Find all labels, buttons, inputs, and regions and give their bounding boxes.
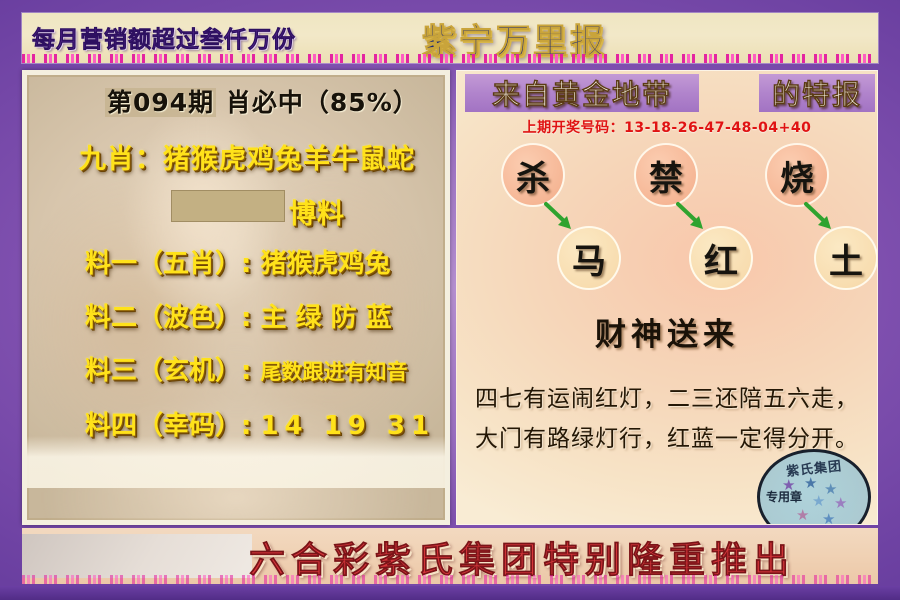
issue-title-line: 第094期 肖必中（85%） bbox=[105, 83, 419, 119]
tip-row-2-value: 主 绿 防 蓝 bbox=[260, 303, 391, 333]
previous-draw-numbers: 上期开奖号码：13-18-26-47-48-04+40 bbox=[457, 117, 877, 137]
fortune-headline: 财神送来 bbox=[457, 309, 877, 354]
tip-row-4-value: 14 19 31 36 bbox=[260, 411, 450, 441]
left-panel: 第094期 肖必中（85%） 九肖：猪猴虎鸡兔羊牛鼠蛇 博料 料一（五肖）: 猪… bbox=[22, 70, 450, 525]
nine-zodiac-line: 九肖：猪猴虎鸡兔羊牛鼠蛇 bbox=[79, 137, 415, 176]
star-icon-6: ★ bbox=[796, 506, 809, 524]
tip-row-3-value: 尾数跟进有知音 bbox=[260, 360, 407, 384]
circle-top-1: 杀 bbox=[501, 143, 565, 207]
footer-bar bbox=[0, 586, 900, 600]
star-icon-5: ★ bbox=[834, 494, 847, 512]
tip-row-1: 料一（五肖）: 猪猴虎鸡兔 bbox=[85, 243, 390, 280]
star-icon-7: ★ bbox=[822, 510, 835, 525]
circle-bottom-2: 红 bbox=[689, 226, 753, 290]
redaction-block bbox=[171, 190, 285, 222]
star-icon-2: ★ bbox=[804, 474, 817, 492]
circle-top-2: 禁 bbox=[634, 143, 698, 207]
tip-row-4: 料四（幸码）: 14 19 31 36 bbox=[85, 405, 450, 442]
right-panel: 来自黄金地带 的特报 上期开奖号码：13-18-26-47-48-04+40 杀… bbox=[456, 70, 878, 525]
star-icon-1: ★ bbox=[782, 476, 795, 494]
tip-row-1-label: 料一（五肖）: bbox=[85, 249, 251, 279]
header-chip-right: 的特报 bbox=[759, 74, 875, 112]
tip-row-2-label: 料二（波色）: bbox=[85, 303, 251, 333]
poem-line-1: 四七有运闹红灯，二三还陪五六走， bbox=[457, 379, 877, 413]
tip-row-2: 料二（波色）: 主 绿 防 蓝 bbox=[85, 297, 392, 334]
tip-row-1-value: 猪猴虎鸡兔 bbox=[260, 249, 390, 279]
circle-bottom-3: 土 bbox=[814, 226, 878, 290]
tip-row-4-label: 料四（幸码）: bbox=[85, 411, 251, 441]
bottom-dot-strip bbox=[22, 575, 878, 584]
header-left-text: 来自黄金地带 bbox=[492, 73, 672, 113]
company-seal: 紫氏集团 专用章 ★ ★ ★ ★ ★ ★ ★ bbox=[757, 449, 871, 525]
issue-number: 第094期 bbox=[105, 88, 216, 117]
bottom-banner: 六合彩紫氏集团特别隆重推出 bbox=[22, 528, 878, 584]
tip-row-3-label: 料三（玄机）: bbox=[85, 356, 251, 386]
issue-headline: 肖必中（85%） bbox=[226, 88, 419, 117]
header-chip-left: 来自黄金地带 bbox=[465, 74, 699, 112]
star-icon-4: ★ bbox=[812, 492, 825, 510]
left-panel-content: 第094期 肖必中（85%） 九肖：猪猴虎鸡兔羊牛鼠蛇 博料 料一（五肖）: 猪… bbox=[27, 75, 445, 520]
circle-bottom-1: 马 bbox=[557, 226, 621, 290]
top-header-band: 每月营销额超过叁仟万份 紫宁万里报 bbox=[22, 13, 878, 63]
bo-liao-label: 博料 bbox=[289, 192, 345, 231]
header-right-text: 的特报 bbox=[772, 73, 862, 113]
circle-top-3: 烧 bbox=[765, 143, 829, 207]
poster-root: 每月营销额超过叁仟万份 紫宁万里报 第094期 肖必中（85%） 九肖：猪猴虎鸡… bbox=[0, 0, 900, 600]
right-panel-header: 来自黄金地带 的特报 bbox=[457, 71, 877, 115]
poem-line-2: 大门有路绿灯行，红蓝一定得分开。 bbox=[457, 419, 877, 453]
tip-row-3: 料三（玄机）: 尾数跟进有知音 bbox=[85, 350, 407, 387]
header-slogan: 每月营销额超过叁仟万份 bbox=[32, 20, 296, 54]
dot-decoration-strip bbox=[22, 54, 878, 63]
